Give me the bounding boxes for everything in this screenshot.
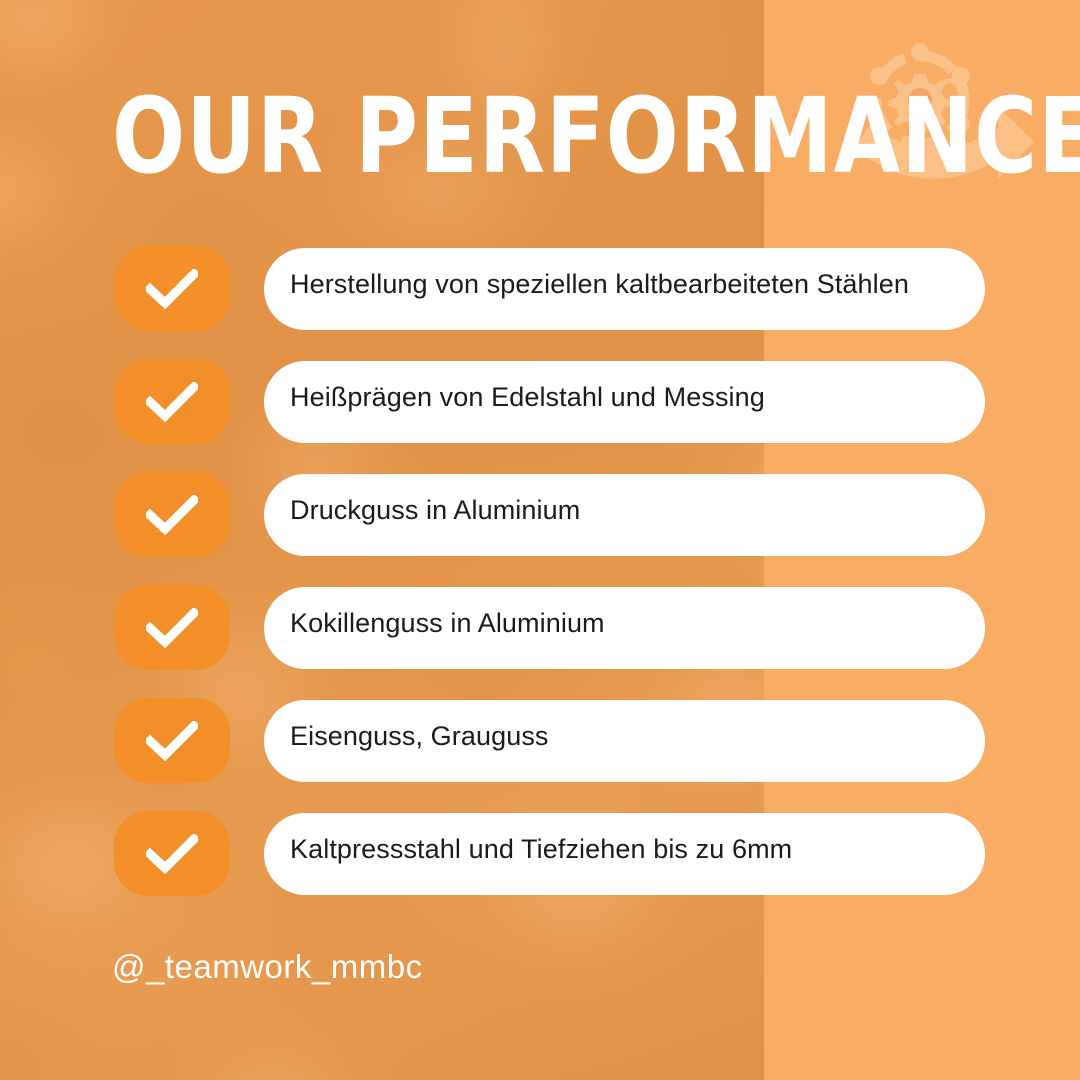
list-item: Eisenguss, Grauguss [0,698,1080,783]
list-item-label: Eisenguss, Grauguss [290,720,963,752]
list-item-label: Kaltpressstahl und Tiefziehen bis zu 6mm [290,833,963,865]
list-item-card: Eisenguss, Grauguss [264,700,985,782]
list-item-card: Kaltpressstahl und Tiefziehen bis zu 6mm [264,813,985,895]
list-item-card: Heißprägen von Edelstahl und Messing [264,361,985,443]
check-icon [114,359,230,444]
list-item: Heißprägen von Edelstahl und Messing [0,359,1080,444]
check-icon [114,472,230,557]
list-item: Kaltpressstahl und Tiefziehen bis zu 6mm [0,811,1080,896]
check-icon [114,246,230,331]
check-icon [114,698,230,783]
list-item-label: Herstellung von speziellen kaltbearbeite… [290,268,963,300]
check-icon [114,811,230,896]
list-item-label: Druckguss in Aluminium [290,494,963,526]
social-handle: @_teamwork_mmbc [112,947,423,987]
page-title: OUR PERFORMANCE [112,84,1080,188]
check-icon [114,585,230,670]
performance-list: Herstellung von speziellen kaltbearbeite… [0,246,1080,924]
list-item: Kokillenguss in Aluminium [0,585,1080,670]
list-item-card: Druckguss in Aluminium [264,474,985,556]
poster-canvas: OUR PERFORMANCE Herstellung von speziell… [0,0,1080,1080]
list-item: Druckguss in Aluminium [0,472,1080,557]
list-item-card: Herstellung von speziellen kaltbearbeite… [264,248,985,330]
list-item-label: Kokillenguss in Aluminium [290,607,963,639]
list-item-card: Kokillenguss in Aluminium [264,587,985,669]
list-item-label: Heißprägen von Edelstahl und Messing [290,381,963,413]
list-item: Herstellung von speziellen kaltbearbeite… [0,246,1080,331]
